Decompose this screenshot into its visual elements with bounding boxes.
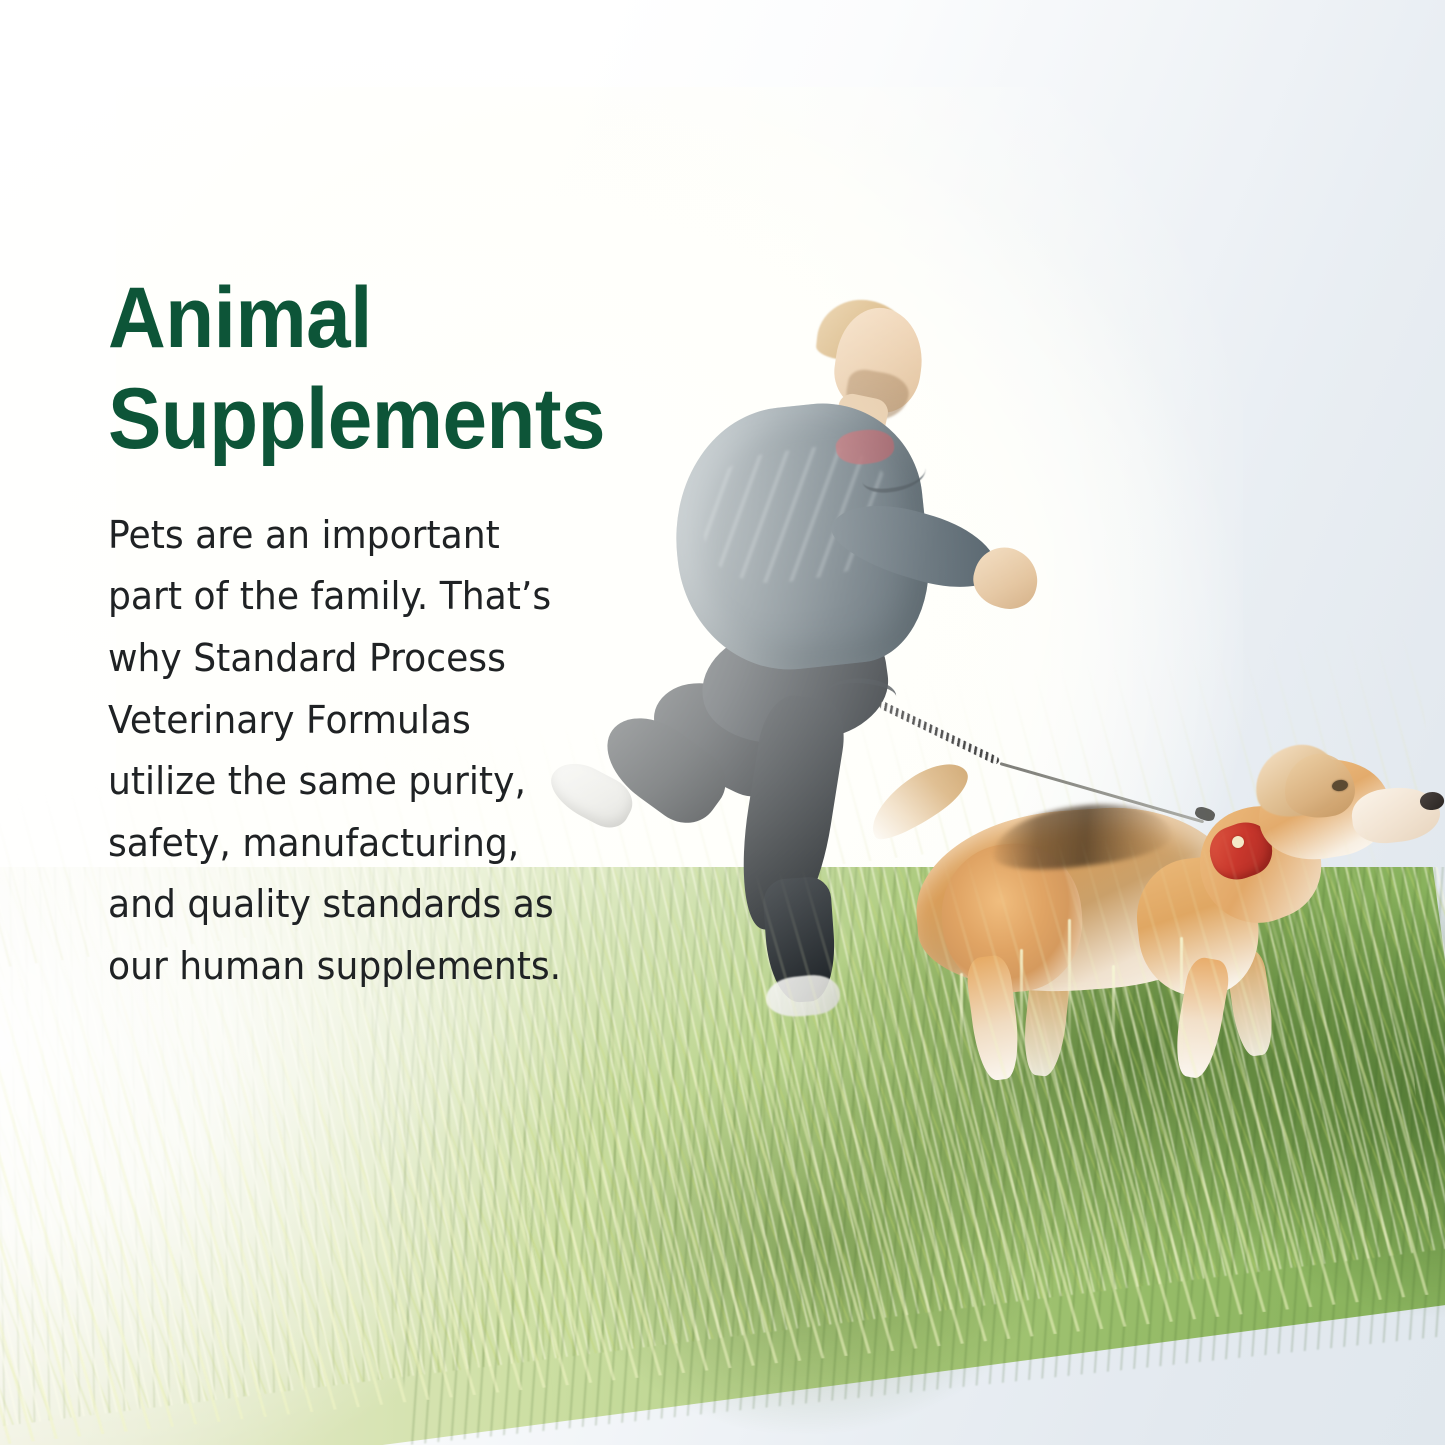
text-overlay: Animal Supplements Pets are an important… <box>108 268 698 997</box>
dog-figure <box>880 740 1440 1120</box>
page-title: Animal Supplements <box>108 268 657 471</box>
body-paragraph: Pets are an important part of the family… <box>108 471 669 997</box>
image-canvas: Animal Supplements Pets are an important… <box>0 0 1445 1445</box>
dog-collar-tag <box>1232 836 1244 848</box>
